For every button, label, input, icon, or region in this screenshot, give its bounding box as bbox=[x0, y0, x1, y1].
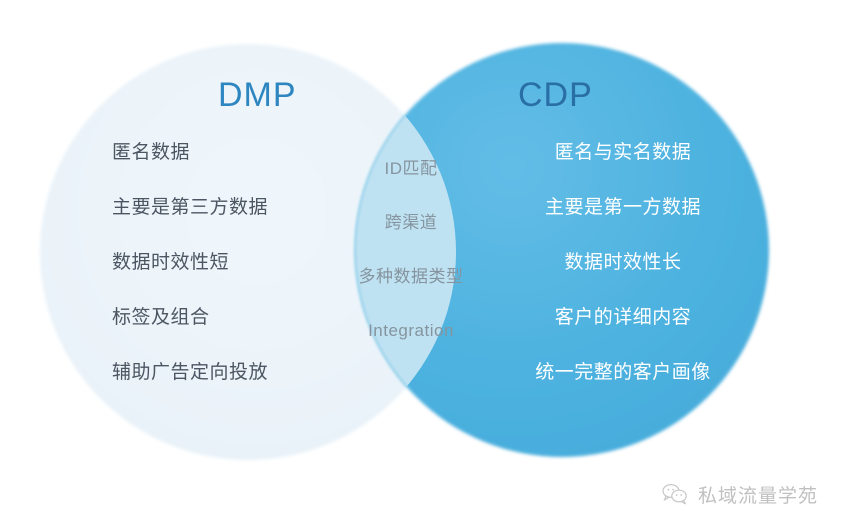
list-item: 统一完整的客户画像 bbox=[535, 363, 711, 382]
list-item: 匿名与实名数据 bbox=[555, 143, 692, 162]
list-item: 匿名数据 bbox=[112, 143, 190, 162]
list-item: 多种数据类型 bbox=[359, 268, 464, 285]
overlap-attribute-list: ID匹配 跨渠道 多种数据类型 Integration bbox=[346, 160, 476, 376]
list-item: 主要是第一方数据 bbox=[545, 198, 701, 217]
list-item: 主要是第三方数据 bbox=[112, 198, 268, 217]
list-item: ID匹配 bbox=[385, 160, 438, 177]
dmp-title: DMP bbox=[218, 76, 297, 115]
watermark-text: 私域流量学苑 bbox=[698, 481, 818, 508]
watermark: 私域流量学苑 bbox=[660, 481, 818, 508]
wechat-bubbles-icon bbox=[660, 483, 690, 507]
cdp-title: CDP bbox=[518, 76, 593, 115]
list-item: 客户的详细内容 bbox=[555, 308, 692, 327]
list-item: 数据时效性长 bbox=[564, 253, 681, 272]
dmp-attribute-list: 匿名数据 主要是第三方数据 数据时效性短 标签及组合 辅助广告定向投放 bbox=[112, 143, 332, 418]
list-item: 辅助广告定向投放 bbox=[112, 363, 268, 382]
list-item: 数据时效性短 bbox=[112, 253, 229, 272]
list-item: 标签及组合 bbox=[112, 308, 210, 327]
cdp-attribute-list: 匿名与实名数据 主要是第一方数据 数据时效性长 客户的详细内容 统一完整的客户画… bbox=[508, 143, 738, 418]
venn-diagram-canvas: DMP CDP 匿名数据 主要是第三方数据 数据时效性短 标签及组合 辅助广告定… bbox=[0, 0, 864, 529]
list-item: Integration bbox=[368, 322, 454, 339]
list-item: 跨渠道 bbox=[385, 214, 438, 231]
